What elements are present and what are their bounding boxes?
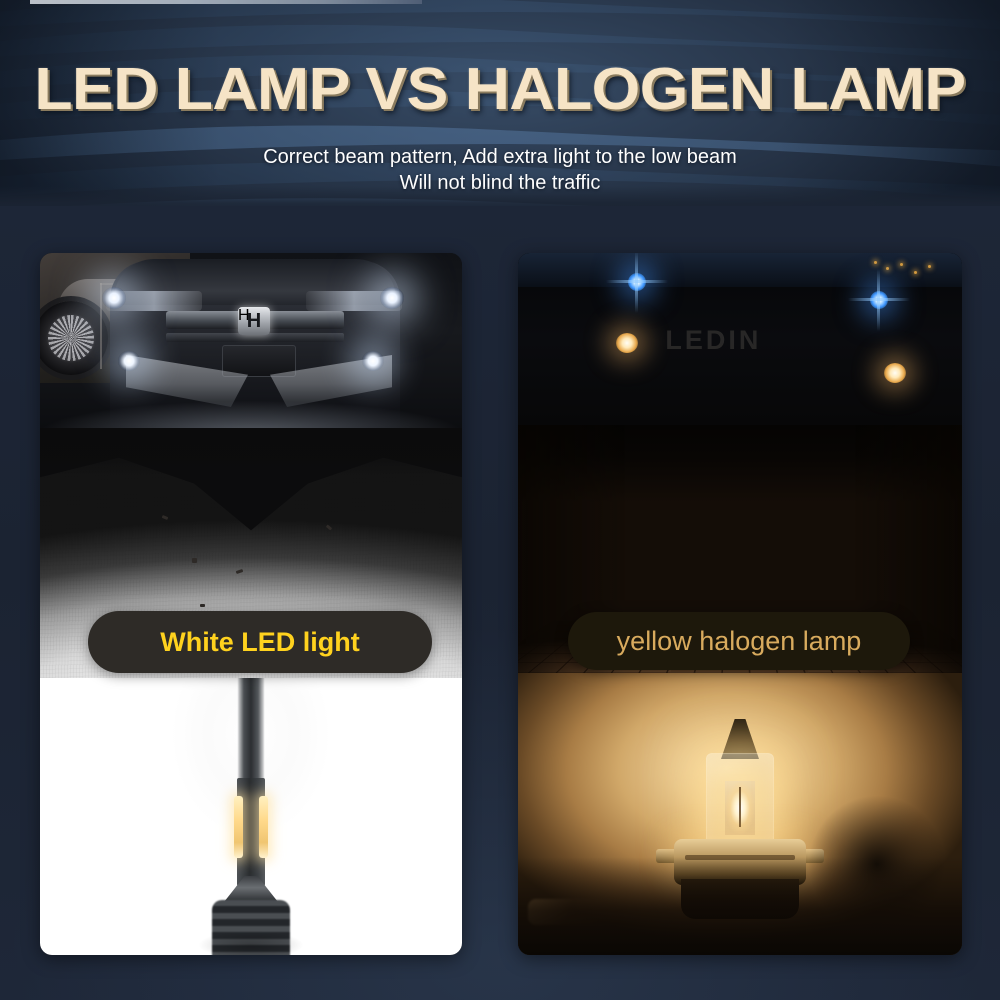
led-chip-left bbox=[234, 796, 243, 858]
halogen-filament bbox=[725, 781, 755, 835]
blue-point-light-left bbox=[628, 273, 646, 291]
label-yellow-halogen-lamp-text: yellow halogen lamp bbox=[617, 626, 862, 657]
comparison-panel-halogen: LEDIN bbox=[518, 253, 962, 955]
halogen-bottom-shadow bbox=[518, 857, 962, 955]
led-bulb-shadow bbox=[176, 925, 326, 955]
fog-light-left bbox=[118, 351, 140, 371]
led-bulb-neck bbox=[224, 876, 278, 902]
license-plate bbox=[222, 345, 296, 377]
blue-point-light-right bbox=[870, 291, 888, 309]
road-debris bbox=[192, 558, 197, 563]
label-yellow-halogen-lamp: yellow halogen lamp bbox=[568, 612, 910, 670]
honda-emblem: H bbox=[238, 307, 270, 335]
subtitle-line-1: Correct beam pattern, Add extra light to… bbox=[263, 146, 737, 168]
distant-street-lights bbox=[870, 259, 940, 283]
fog-light-right bbox=[362, 351, 384, 371]
warm-point-light-right bbox=[884, 363, 906, 383]
page-title: LED LAMP VS HALOGEN LAMP bbox=[0, 60, 1000, 119]
ground-light-glow bbox=[40, 388, 462, 428]
road-debris bbox=[200, 604, 205, 607]
top-light-strip bbox=[30, 0, 422, 4]
halogen-bulb-photo bbox=[518, 673, 962, 955]
label-white-led-light-text: White LED light bbox=[160, 627, 359, 658]
led-car-photo: H bbox=[40, 253, 462, 428]
label-white-led-light: White LED light bbox=[88, 611, 432, 673]
led-headlight-beam-left bbox=[102, 287, 126, 309]
led-chip-right bbox=[259, 796, 268, 858]
led-bulb-photo bbox=[40, 678, 462, 955]
road-dark-top bbox=[40, 428, 462, 476]
car-grille-logo: LEDIN bbox=[665, 325, 761, 356]
header-banner: LED LAMP VS HALOGEN LAMP Correct beam pa… bbox=[0, 0, 1000, 212]
comparison-panel-led: H bbox=[40, 253, 462, 955]
led-headlight-beam-right bbox=[380, 287, 404, 309]
warm-point-light-left bbox=[616, 333, 638, 353]
halogen-car-photo: LEDIN bbox=[518, 253, 962, 425]
